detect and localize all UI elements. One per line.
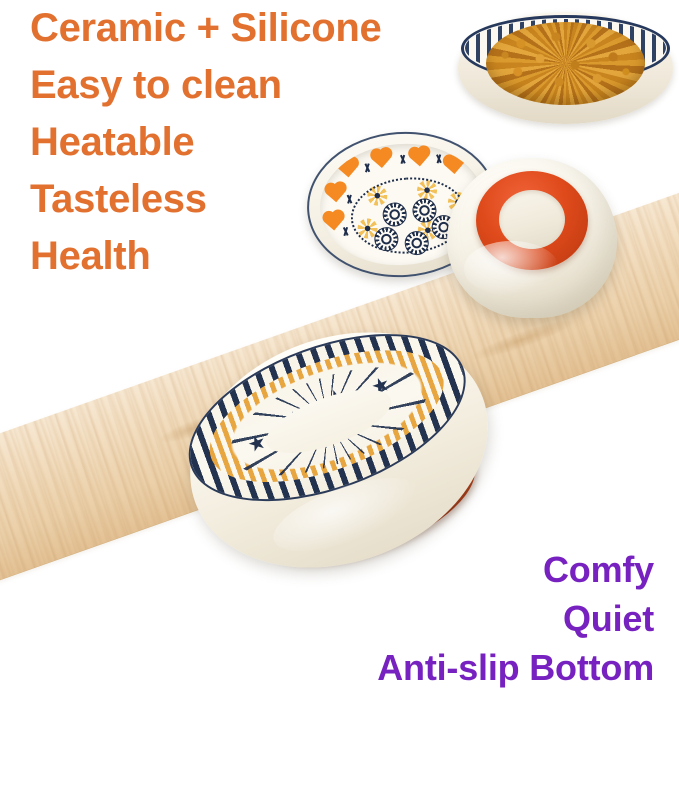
feature-line-heatable: Heatable: [30, 114, 470, 171]
benefit-line-comfy: Comfy: [224, 545, 654, 594]
kibble-bowl: [458, 12, 673, 124]
benefit-line-quiet: Quiet: [224, 594, 654, 643]
wood-knot: [467, 314, 576, 366]
feature-line-health: Health: [30, 228, 470, 285]
feature-line-ceramic-silicone: Ceramic + Silicone: [30, 0, 470, 57]
product-feature-image: Ceramic + Silicone Easy to clean Heatabl…: [0, 0, 679, 789]
feature-line-easy-to-clean: Easy to clean: [30, 57, 470, 114]
benefit-line-anti-slip-bottom: Anti-slip Bottom: [224, 643, 654, 692]
silicone-bottom-bowl: [447, 158, 617, 318]
kibble-food: [486, 22, 645, 105]
benefit-headline-list: Comfy Quiet Anti-slip Bottom: [224, 545, 654, 692]
feature-headline-list: Ceramic + Silicone Easy to clean Heatabl…: [30, 0, 470, 285]
feature-line-tasteless: Tasteless: [30, 171, 470, 228]
bowl-highlight: [464, 241, 559, 295]
